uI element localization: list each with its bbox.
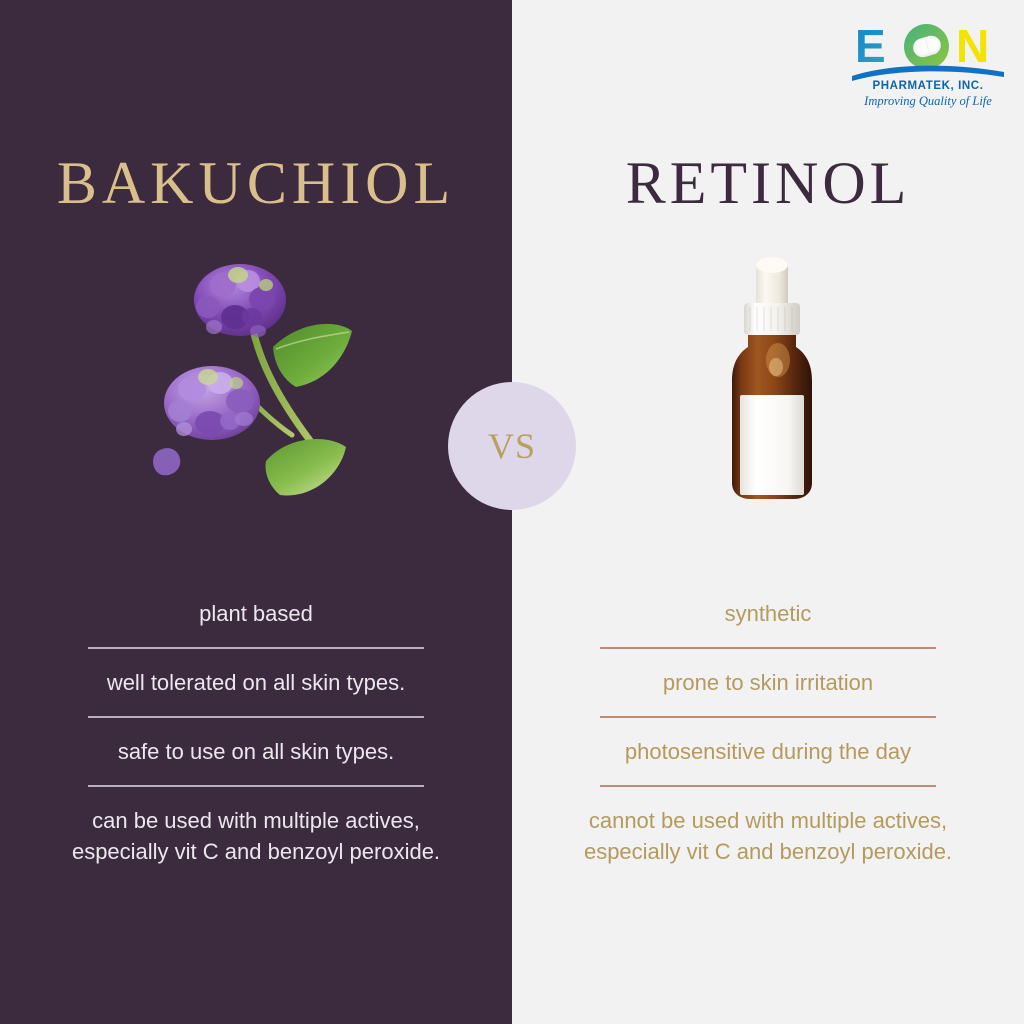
list-item: well tolerated on all skin types. xyxy=(0,667,512,698)
feature-text: safe to use on all skin types. xyxy=(0,736,512,767)
list-item: photosensitive during the day xyxy=(512,736,1024,767)
list-item: plant based xyxy=(0,598,512,629)
list-item: cannot be used with multiple actives, es… xyxy=(512,805,1024,867)
feature-list-retinol: synthetic prone to skin irritation photo… xyxy=(512,598,1024,867)
feature-text: prone to skin irritation xyxy=(512,667,1024,698)
logo-tagline: Improving Quality of Life xyxy=(852,94,1004,109)
fallen-petal-icon xyxy=(153,448,180,475)
eon-pharmatek-logo: E N PHARMATEK, INC. Improving Quality of… xyxy=(852,20,1004,108)
babchi-plant-illustration xyxy=(140,255,375,510)
feature-list-bakuchiol: plant based well tolerated on all skin t… xyxy=(0,598,512,867)
divider xyxy=(600,647,936,649)
divider xyxy=(88,785,424,787)
swoosh-icon xyxy=(852,60,1004,82)
list-item: synthetic xyxy=(512,598,1024,629)
amber-dropper-bottle xyxy=(712,255,832,505)
logo-company-name: PHARMATEK, INC. xyxy=(852,80,1004,92)
feature-text: cannot be used with multiple actives, es… xyxy=(512,805,1024,867)
divider xyxy=(600,785,936,787)
list-item: safe to use on all skin types. xyxy=(0,736,512,767)
feature-text: photosensitive during the day xyxy=(512,736,1024,767)
divider xyxy=(88,647,424,649)
feature-text: can be used with multiple actives, espec… xyxy=(0,805,512,867)
vs-label: VS xyxy=(488,425,536,467)
comparison-infographic: E N PHARMATEK, INC. Improving Quality of… xyxy=(0,0,1024,1024)
title-bakuchiol: BAKUCHIOL xyxy=(0,148,512,218)
vs-badge: VS xyxy=(448,382,576,510)
title-retinol: RETINOL xyxy=(512,148,1024,218)
divider xyxy=(88,716,424,718)
list-item: can be used with multiple actives, espec… xyxy=(0,805,512,867)
feature-text: plant based xyxy=(0,598,512,629)
list-item: prone to skin irritation xyxy=(512,667,1024,698)
feature-text: well tolerated on all skin types. xyxy=(0,667,512,698)
divider xyxy=(600,716,936,718)
pill-tablet-icon xyxy=(911,34,943,60)
feature-text: synthetic xyxy=(512,598,1024,629)
